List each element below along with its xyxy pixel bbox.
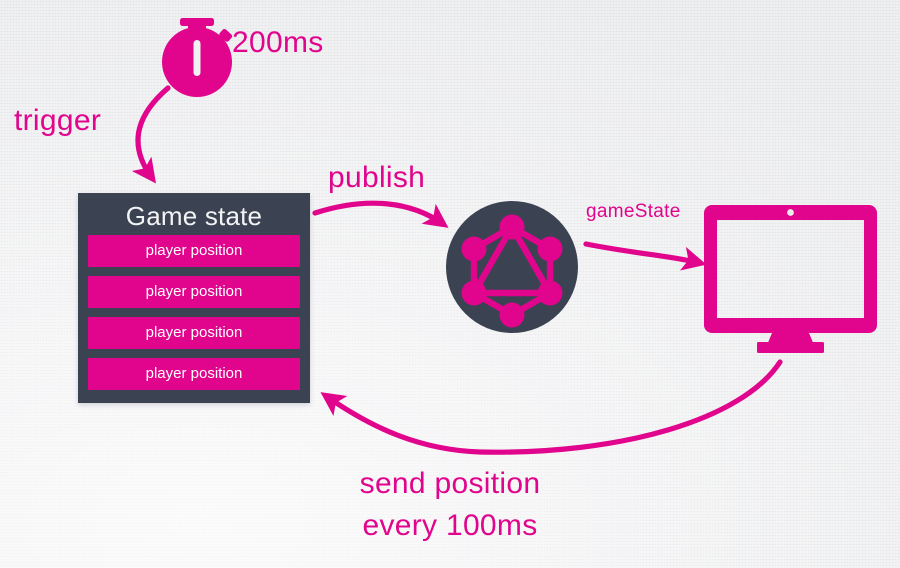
publish-label: publish xyxy=(328,161,425,195)
gamestate-label: gameState xyxy=(586,201,681,223)
player-position-row: player position xyxy=(88,317,300,349)
send-position-line-1: send position xyxy=(0,463,900,505)
player-position-row: player position xyxy=(88,235,300,267)
game-state-title: Game state xyxy=(88,199,300,235)
diagram-canvas: Game state player position player positi… xyxy=(0,0,900,568)
game-state-panel: Game state player position player positi… xyxy=(78,193,310,403)
timer-interval-label: 200ms xyxy=(232,26,324,60)
player-position-row: player position xyxy=(88,358,300,390)
send-position-line-2: every 100ms xyxy=(0,505,900,547)
diagram-text-layer: Game state player position player positi… xyxy=(0,0,900,568)
player-position-row: player position xyxy=(88,276,300,308)
send-position-label: send position every 100ms xyxy=(0,463,900,547)
trigger-label: trigger xyxy=(14,104,101,138)
